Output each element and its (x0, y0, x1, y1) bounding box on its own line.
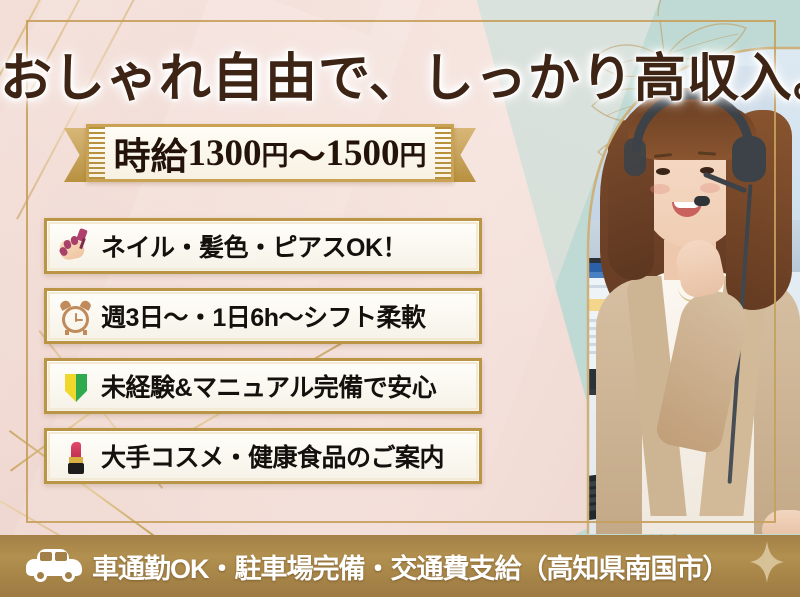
feature-label: 未経験&マニュアル完備で安心 (101, 368, 436, 404)
job-advertisement-banner: おしゃれ自由で、しっかり高収入。 時給1300円〜1500円 ネイル・髪色・ピア… (0, 0, 800, 597)
footer-text: 車通勤OK・駐車場完備・交通費支給（高知県南国市） (92, 547, 729, 586)
wage-amount-low: 1300 (188, 132, 262, 175)
feature-label: 大手コスメ・健康食品のご案内 (101, 438, 444, 474)
page-title: おしゃれ自由で、しっかり高収入。 (0, 36, 800, 111)
wage-ribbon: 時給1300円〜1500円 (64, 124, 476, 186)
feature-row-training: 未経験&マニュアル完備で安心 (44, 358, 482, 414)
wage-unit-high: 円 (400, 134, 427, 173)
feature-label: 週3日〜・1日6h〜シフト柔軟 (101, 298, 425, 334)
wage-unit-low: 円 (262, 134, 289, 173)
wage-prefix: 時給 (114, 126, 188, 180)
sparkle-icon (750, 541, 784, 583)
footer-bar: 車通勤OK・駐車場完備・交通費支給（高知県南国市） (0, 535, 800, 597)
beginner-badge-icon (59, 367, 93, 405)
wage-amount-high: 1500 (326, 132, 400, 175)
wage-text: 時給1300円〜1500円 (64, 126, 476, 180)
lipstick-icon (59, 437, 93, 475)
feature-label: ネイル・髪色・ピアスOK！ (101, 228, 407, 264)
wage-range-mark: 〜 (289, 126, 326, 180)
feature-row-appearance: ネイル・髪色・ピアスOK！ (44, 218, 482, 274)
feature-row-shift: 週3日〜・1日6h〜シフト柔軟 (44, 288, 482, 344)
alarm-clock-icon (59, 297, 93, 335)
operator-figure (586, 80, 800, 534)
car-icon (26, 549, 82, 583)
feature-list: ネイル・髪色・ピアスOK！ 週3日〜・1日6h〜シフト柔軟 未経験&マニュアル完… (44, 218, 482, 498)
feature-row-products: 大手コスメ・健康食品のご案内 (44, 428, 482, 484)
nail-polish-icon (59, 227, 93, 265)
